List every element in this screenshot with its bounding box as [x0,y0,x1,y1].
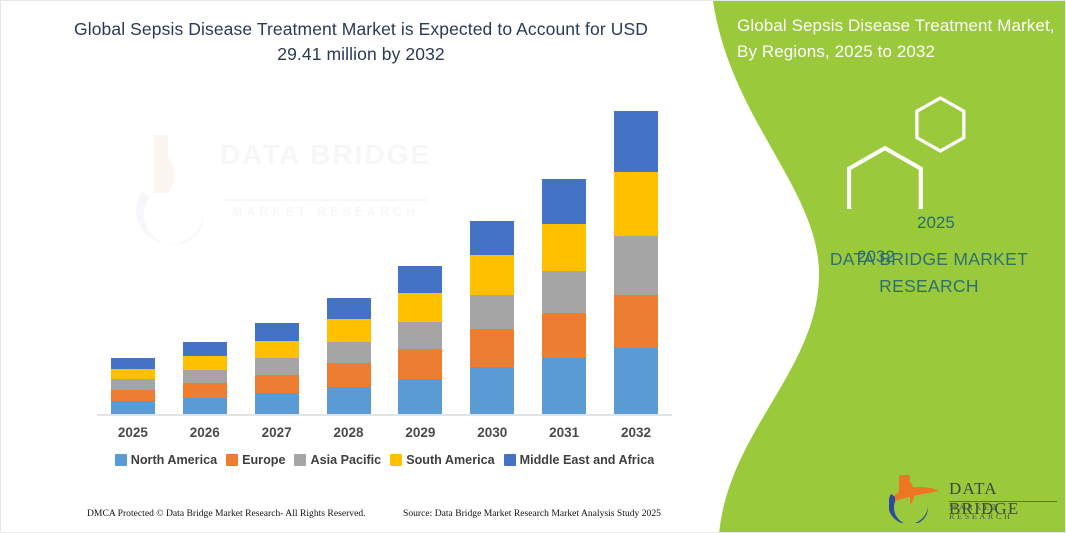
bar-segment [398,349,442,379]
bar-segment [614,348,658,414]
x-axis-tick: 2028 [313,421,385,445]
logo-subtitle: MARKET RESEARCH [949,503,1061,521]
legend-item[interactable]: North America [115,453,217,467]
bar-column [313,101,385,414]
bar-segment [111,369,155,380]
bar-segment [111,390,155,401]
legend-item[interactable]: South America [390,453,494,467]
bar-segment [111,401,155,414]
x-axis-line [97,414,672,416]
footer-copyright: DMCA Protected © Data Bridge Market Rese… [87,508,366,519]
bar-segment [542,313,586,359]
bar-column [385,101,457,414]
bar-segment [183,398,227,414]
bar-segment [614,295,658,348]
footer-source: Source: Data Bridge Market Research Mark… [403,508,661,519]
bar-column [97,101,169,414]
chart-pane: Global Sepsis Disease Treatment Market i… [1,1,713,533]
legend-swatch [226,454,238,466]
legend-swatch [390,454,402,466]
x-axis-tick: 2030 [456,421,528,445]
bar-segment [327,387,371,414]
bar-segment [470,329,514,367]
bar-column [528,101,600,414]
x-axis-tick: 2027 [241,421,313,445]
legend-label: Europe [242,453,285,467]
bar-segment [398,266,442,293]
bar-segment [614,236,658,295]
bar-column [600,101,672,414]
bar-column [456,101,528,414]
legend-item[interactable]: Middle East and Africa [504,453,655,467]
stacked-bar [111,358,155,414]
x-axis-labels: 20252026202720282029203020312032 [97,421,672,445]
legend-swatch [504,454,516,466]
stacked-bar [470,221,514,414]
x-axis-tick: 2031 [528,421,600,445]
hexagon-label-front: 2025 [917,213,955,233]
bar-segment [327,319,371,342]
bar-segment [470,367,514,414]
bar-segment [542,179,586,223]
bar-column [169,101,241,414]
bar-segment [183,383,227,398]
bar-segment [470,221,514,255]
legend-label: Middle East and Africa [520,453,655,467]
bar-column [241,101,313,414]
bar-segment [255,341,299,359]
chart-legend: North AmericaEuropeAsia PacificSouth Ame… [97,453,672,467]
x-axis-tick: 2026 [169,421,241,445]
hexagon-outlines-icon [811,89,991,209]
bar-segment [255,375,299,394]
legend-item[interactable]: Asia Pacific [294,453,381,467]
panel-title: Global Sepsis Disease Treatment Market, … [737,13,1057,64]
x-axis-tick: 2025 [97,421,169,445]
bar-segment [327,342,371,364]
bar-segment [398,293,442,322]
bar-segment [470,295,514,329]
legend-item[interactable]: Europe [226,453,285,467]
bar-segment [542,271,586,312]
bar-segment [398,379,442,414]
stacked-bar [255,323,299,414]
page-title: Global Sepsis Disease Treatment Market i… [61,17,661,68]
bar-segment [111,358,155,368]
panel-brand-text: DATA BRIDGE MARKET RESEARCH [791,246,1066,300]
stacked-bar [614,111,658,414]
bar-segment [183,342,227,356]
bar-segment [255,323,299,341]
bar-chart-plot [97,101,672,414]
x-axis-tick: 2029 [385,421,457,445]
bar-segment [183,356,227,370]
stacked-bar [542,179,586,414]
panel-brand-line1: DATA BRIDGE MARKET [830,249,1028,269]
bar-segment [255,358,299,375]
footer: DMCA Protected © Data Bridge Market Rese… [1,506,701,528]
bar-segment [327,363,371,387]
panel-brand-line2: RESEARCH [879,276,979,296]
bar-segment [542,224,586,272]
bar-segment [255,393,299,414]
x-axis-tick: 2032 [600,421,672,445]
bar-segment [183,370,227,383]
legend-label: North America [131,453,217,467]
legend-label: South America [406,453,494,467]
logo-divider [949,501,1057,502]
bar-segment [111,379,155,389]
bar-segment [470,255,514,295]
bar-segment [542,358,586,414]
legend-swatch [115,454,127,466]
legend-swatch [294,454,306,466]
stacked-bar [327,298,371,414]
brand-logo: DATA BRIDGE MARKET RESEARCH [889,473,1061,525]
bar-segment [398,322,442,349]
bar-segment [614,111,658,172]
hexagon-group: 2032 2025 [811,89,991,209]
stacked-bar [183,342,227,414]
stacked-bar [398,266,442,414]
data-bridge-logo-icon [889,473,945,523]
legend-label: Asia Pacific [310,453,381,467]
bar-segment [327,298,371,319]
infographic-canvas: Global Sepsis Disease Treatment Market i… [0,0,1066,533]
bar-segment [614,172,658,236]
